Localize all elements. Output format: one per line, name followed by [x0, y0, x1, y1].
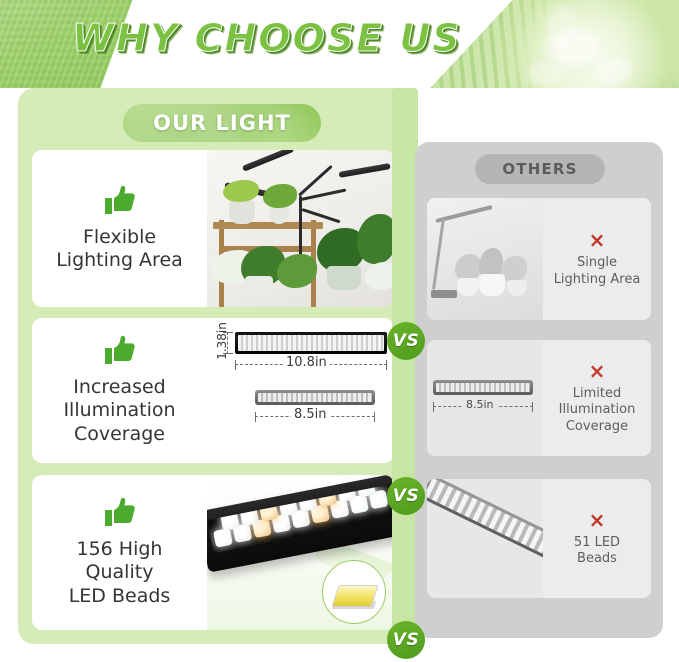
small-length-dimension-label: 8.5in — [291, 407, 330, 422]
height-dimension-label: 1.38in — [215, 319, 229, 363]
led-chip-closeup — [322, 560, 386, 624]
thumbs-up-icon — [103, 335, 137, 369]
vs-badge-2: VS — [387, 477, 425, 515]
others-card-3: × 51 LED Beads — [427, 479, 651, 598]
others-feature-1-label: Single Lighting Area — [550, 255, 645, 288]
others-lamp-photo-1 — [427, 198, 545, 320]
our-feature-3-label: 156 High Quality LED Beads — [63, 538, 177, 608]
our-led-bar-graphic — [235, 332, 387, 354]
others-feature-3-line1: 51 LED — [574, 535, 620, 551]
others-feature-2-line1: Limited — [559, 386, 636, 402]
others-panel: OTHERS × Single Lighting Area — [415, 142, 663, 638]
our-size-diagram: 1.38in 10.8in 8.5in — [207, 318, 394, 463]
page-header: WHY CHOOSE US — [0, 0, 679, 88]
vs-badge-1: VS — [387, 322, 425, 360]
our-feature-1-text-block: Flexible Lighting Area — [32, 150, 207, 307]
our-feature-2-text-block: Increased Illumination Coverage — [32, 318, 207, 463]
our-led-beads-photo — [207, 475, 394, 630]
others-feature-2-text-block: × Limited Illumination Coverage — [543, 340, 651, 456]
our-feature-3-line1: 156 High — [69, 538, 171, 561]
others-feature-2-label: Limited Illumination Coverage — [555, 386, 640, 435]
thumbs-up-icon — [103, 185, 137, 219]
others-led-bar-angled — [427, 479, 545, 563]
our-feature-2-label: Increased Illumination Coverage — [57, 376, 181, 446]
others-feature-3-line2: Beads — [574, 551, 620, 567]
our-feature-3-text-block: 156 High Quality LED Beads — [32, 475, 207, 630]
others-size-diagram: 8.5in — [427, 340, 543, 456]
others-feature-3-label: 51 LED Beads — [570, 535, 624, 568]
others-feature-1-text-block: × Single Lighting Area — [543, 198, 651, 320]
our-feature-3-line3: LED Beads — [69, 585, 171, 608]
cross-icon: × — [589, 510, 606, 530]
others-feature-1-line1: Single — [554, 255, 641, 271]
our-light-panel: OUR LIGHT Flexible Lighting Area — [18, 88, 408, 644]
our-feature-2-line1: Increased — [63, 376, 175, 399]
our-feature-card-3: 156 High Quality LED Beads — [32, 475, 394, 630]
others-feature-1-line2: Lighting Area — [554, 272, 641, 288]
cross-icon: × — [589, 230, 606, 250]
others-feature-3-text-block: × 51 LED Beads — [543, 479, 651, 598]
comparison-board: OUR LIGHT Flexible Lighting Area — [0, 88, 679, 662]
our-product-photo-plant-shelf — [207, 150, 394, 307]
our-light-badge: OUR LIGHT — [123, 104, 321, 142]
our-feature-card-2: Increased Illumination Coverage 1.38in 1… — [32, 318, 394, 463]
others-led-beads-photo — [427, 479, 545, 598]
others-card-2: 8.5in × Limited Illumination Coverage — [427, 340, 651, 456]
our-length-dimension-label: 10.8in — [283, 355, 330, 370]
others-length-dimension-label: 8.5in — [463, 398, 497, 411]
page-title: WHY CHOOSE US — [72, 16, 462, 60]
cross-icon: × — [589, 361, 606, 381]
others-feature-2-line3: Coverage — [559, 419, 636, 435]
others-card-1: × Single Lighting Area — [427, 198, 651, 320]
our-feature-3-line2: Quality — [69, 561, 171, 584]
our-feature-2-line2: Illumination — [63, 399, 175, 422]
our-feature-1-label: Flexible Lighting Area — [50, 226, 189, 272]
our-feature-2-line3: Coverage — [63, 423, 175, 446]
our-feature-card-1: Flexible Lighting Area — [32, 150, 394, 307]
our-feature-1-line2: Lighting Area — [56, 249, 183, 272]
others-badge: OTHERS — [475, 154, 605, 184]
vs-badge-3: VS — [387, 621, 425, 659]
our-feature-1-line1: Flexible — [56, 226, 183, 249]
competitor-led-bar-graphic — [255, 390, 375, 405]
others-led-bar-graphic — [433, 380, 533, 395]
thumbs-up-icon — [103, 497, 137, 531]
others-feature-2-line2: Illumination — [559, 402, 636, 418]
